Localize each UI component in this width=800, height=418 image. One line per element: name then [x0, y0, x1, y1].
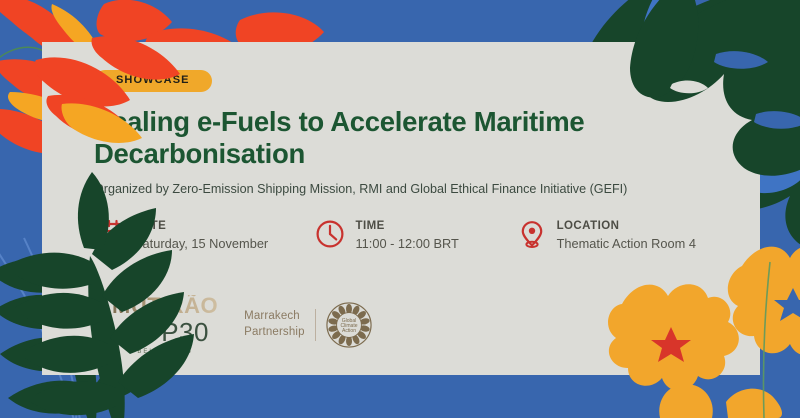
detail-date-label: DATE [134, 219, 268, 233]
detail-location-label: LOCATION [557, 219, 696, 233]
detail-location: LOCATION Thematic Action Room 4 [517, 218, 740, 252]
event-title: Scaling e-Fuels to Accelerate Maritime D… [94, 106, 694, 170]
detail-time-label: TIME [355, 219, 458, 233]
event-card: SHOWCASE Scaling e-Fuels to Accelerate M… [42, 42, 760, 375]
calendar-icon [94, 219, 124, 249]
showcase-badge: SHOWCASE [94, 70, 212, 92]
logo-strip: MUTIRÃO COP30 BELÉM 2025 Marrakech Partn… [112, 295, 372, 355]
seal-line-3: Action [342, 328, 356, 334]
cop30-wordmark: COP30 [112, 319, 218, 345]
detail-date-value: Saturday, 15 November [134, 235, 268, 252]
cop30-logo: MUTIRÃO COP30 BELÉM 2025 [112, 295, 218, 355]
detail-time: TIME 11:00 - 12:00 BRT [315, 218, 516, 252]
flower-partial-bottom [659, 384, 782, 418]
marrakech-partnership-text: Marrakech Partnership [244, 309, 315, 340]
belem-2025-label: BELÉM 2025 [112, 349, 218, 355]
event-organizer: Organized by Zero-Emission Shipping Miss… [94, 181, 740, 197]
marrakech-partnership-logo: Marrakech Partnership [240, 302, 371, 348]
event-details-row: DATE Saturday, 15 November TIME 11:00 - … [94, 218, 740, 252]
location-pin-icon [517, 219, 547, 249]
mutirao-wordmark: MUTIRÃO [112, 295, 218, 317]
clock-icon [315, 219, 345, 249]
detail-date: DATE Saturday, 15 November [94, 218, 315, 252]
marrakech-line-1: Marrakech [244, 309, 304, 325]
detail-time-value: 11:00 - 12:00 BRT [355, 235, 458, 252]
flower-stems [763, 258, 800, 418]
marrakech-line-2: Partnership [244, 325, 304, 341]
detail-location-value: Thematic Action Room 4 [557, 235, 696, 252]
event-card-graphic: SHOWCASE Scaling e-Fuels to Accelerate M… [0, 0, 800, 418]
global-climate-action-seal-icon: Global Climate Action [326, 302, 372, 348]
